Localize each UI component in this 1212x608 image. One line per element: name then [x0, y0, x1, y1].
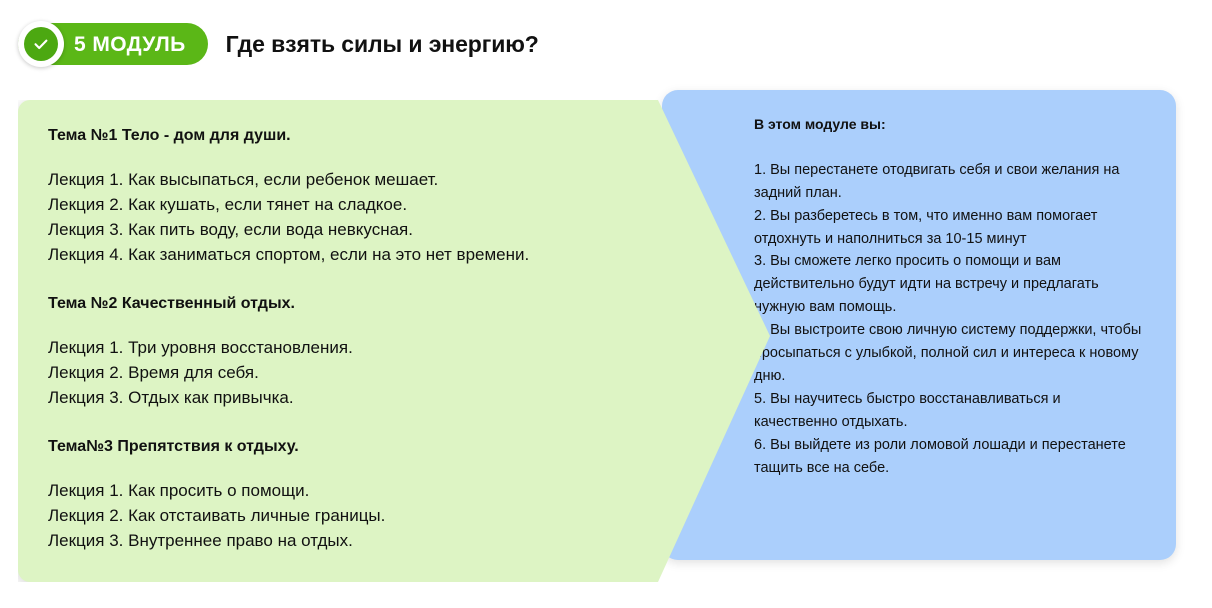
module-badge: 5 МОДУЛЬ — [18, 21, 208, 67]
lecture-list: Лекция 1. Как просить о помощи.Лекция 2.… — [48, 479, 770, 554]
topic-block: Тема №1 Тело - дом для души.Лекция 1. Ка… — [48, 126, 770, 268]
lecture-item: Лекция 2. Время для себя. — [48, 361, 770, 386]
page-header: 5 МОДУЛЬ Где взять силы и энергию? — [0, 0, 1212, 88]
page-title: Где взять силы и энергию? — [226, 31, 539, 58]
outcome-item: 2. Вы разберетесь в том, что именно вам … — [754, 205, 1142, 251]
lecture-list: Лекция 1. Как высыпаться, если ребенок м… — [48, 168, 770, 268]
lecture-item: Лекция 1. Три уровня восстановления. — [48, 336, 770, 361]
lecture-item: Лекция 1. Как просить о помощи. — [48, 479, 770, 504]
outcome-item: 1. Вы перестанете отодвигать себя и свои… — [754, 159, 1142, 205]
lecture-item: Лекция 2. Как отстаивать личные границы. — [48, 504, 770, 529]
check-icon — [24, 27, 58, 61]
lecture-item: Лекция 4. Как заниматься спортом, если н… — [48, 243, 770, 268]
lecture-item: Лекция 2. Как кушать, если тянет на слад… — [48, 193, 770, 218]
lecture-list: Лекция 1. Три уровня восстановления.Лекц… — [48, 336, 770, 411]
lecture-item: Лекция 3. Как пить воду, если вода невку… — [48, 218, 770, 243]
topic-title: Тема №1 Тело - дом для души. — [48, 126, 770, 146]
lecture-item: Лекция 3. Отдых как привычка. — [48, 386, 770, 411]
module-curriculum-panel: Тема №1 Тело - дом для души.Лекция 1. Ка… — [18, 100, 770, 582]
topics-container: Тема №1 Тело - дом для души.Лекция 1. Ка… — [48, 126, 770, 554]
topic-title: Тема №2 Качественный отдых. — [48, 294, 770, 314]
lecture-item: Лекция 1. Как высыпаться, если ребенок м… — [48, 168, 770, 193]
topic-block: Тема№3 Препятствия к отдыху.Лекция 1. Ка… — [48, 437, 770, 554]
module-badge-label: 5 МОДУЛЬ — [74, 34, 186, 55]
outcome-item: 3. Вы сможете легко просить о помощи и в… — [754, 250, 1142, 319]
outcome-item: 5. Вы научитесь быстро восстанавливаться… — [754, 388, 1142, 434]
outcome-item: 4. Вы выстроите свою личную систему подд… — [754, 319, 1142, 388]
check-icon-ring — [18, 21, 64, 67]
outcomes-list: 1. Вы перестанете отодвигать себя и свои… — [754, 159, 1142, 480]
lecture-item: Лекция 3. Внутреннее право на отдых. — [48, 529, 770, 554]
topic-title: Тема№3 Препятствия к отдыху. — [48, 437, 770, 457]
topic-block: Тема №2 Качественный отдых.Лекция 1. Три… — [48, 294, 770, 411]
outcomes-heading: В этом модуле вы: — [754, 116, 1142, 133]
outcome-item: 6. Вы выйдете из роли ломовой лошади и п… — [754, 434, 1142, 480]
